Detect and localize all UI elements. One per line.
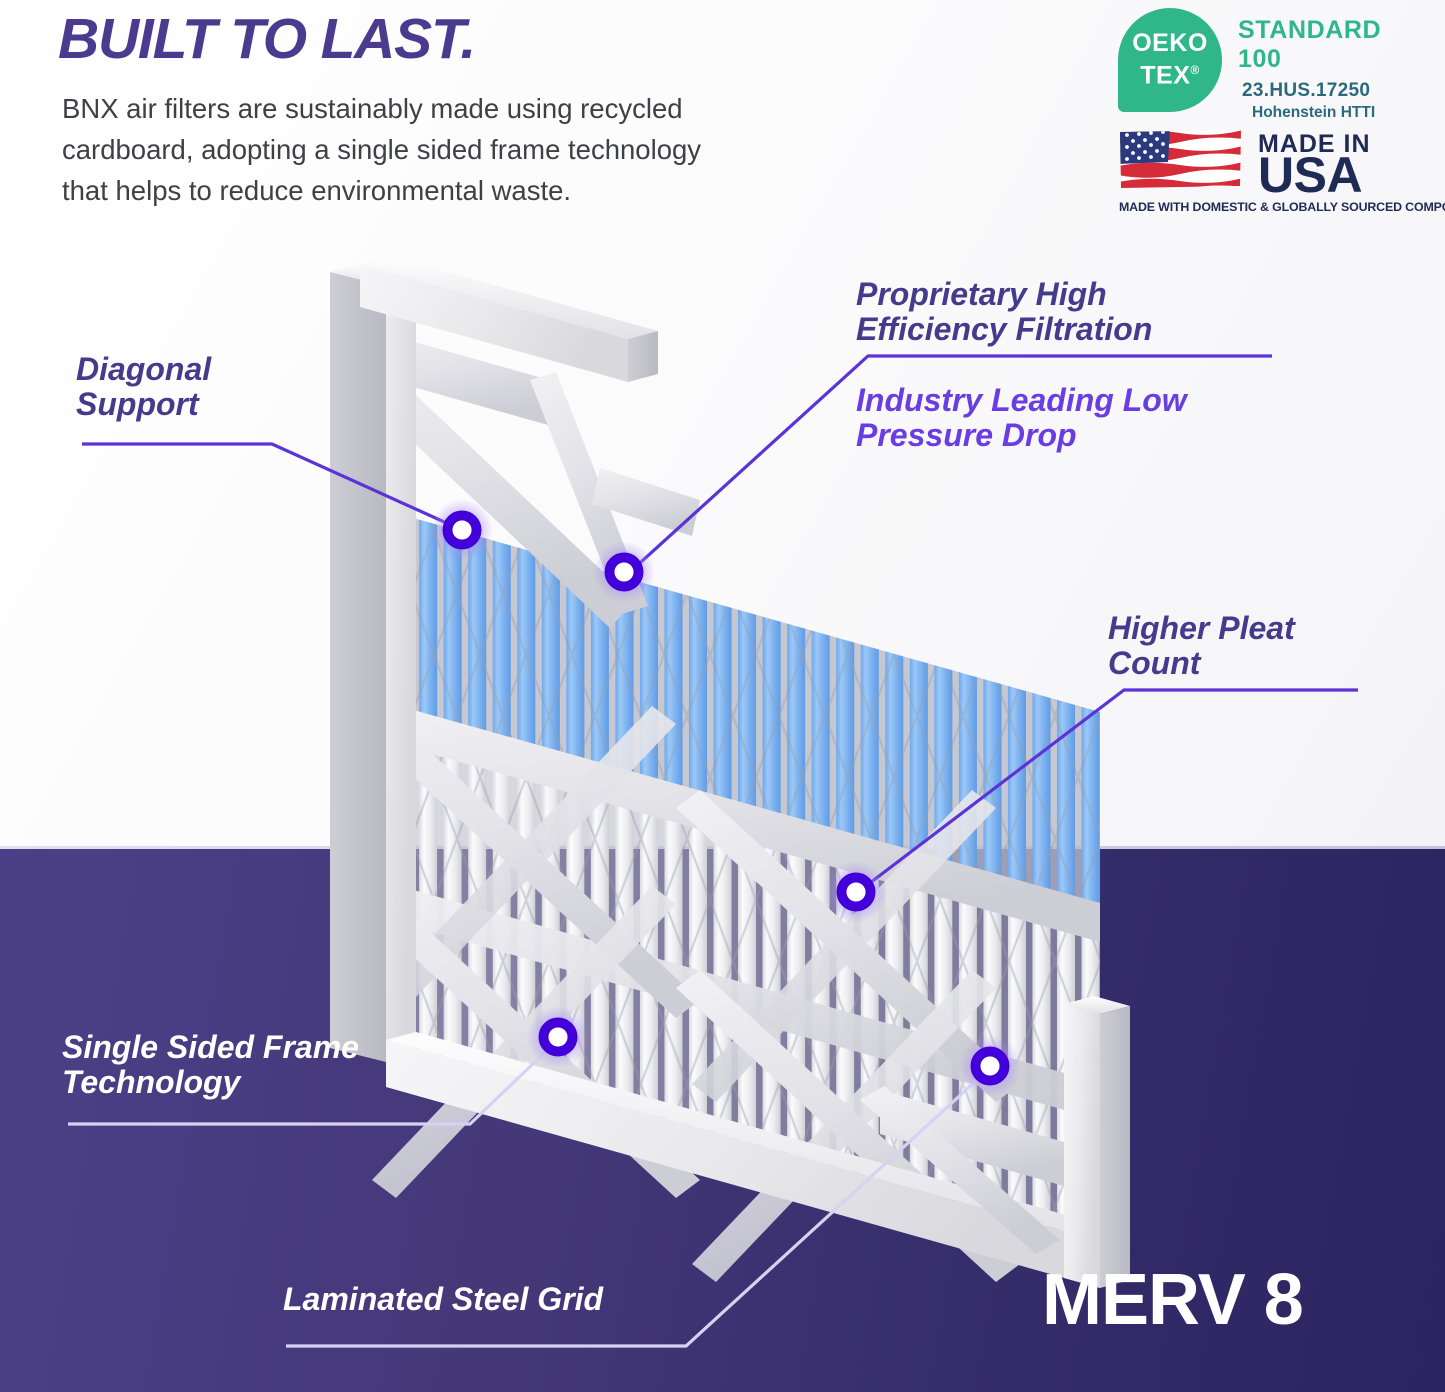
callout-pleat-count: Higher Pleat Count xyxy=(1108,611,1295,680)
oeko-certificate-number: 23.HUS.17250 xyxy=(1242,80,1370,102)
marker-diagonal-support xyxy=(431,499,493,561)
merv-rating-badge: MERV 8 xyxy=(1042,1264,1303,1336)
callout-diagonal-support: Diagonal Support xyxy=(76,352,211,421)
callout-pressure-drop-line1: Industry Leading Low xyxy=(856,383,1187,418)
oeko-standard-line1: STANDARD xyxy=(1238,16,1381,45)
intro-line-2: cardboard, adopting a single sided frame… xyxy=(62,129,852,170)
callout-frame-line2: Technology xyxy=(62,1065,359,1100)
single-sided-frame-left-rail xyxy=(330,264,416,1062)
marker-laminated-steel-grid xyxy=(959,1035,1021,1097)
callout-pressure-drop-line2: Pressure Drop xyxy=(856,418,1187,453)
oeko-tex-name-line1: OEKO xyxy=(1132,30,1208,57)
intro-line-1: BNX air filters are sustainably made usi… xyxy=(62,88,852,129)
oeko-tex-badge: OEKO TEX® STANDARD 100 23.HUS.17250 Hohe… xyxy=(1118,8,1438,120)
oeko-tex-logo-mark: OEKO TEX® xyxy=(1118,8,1222,112)
marker-single-sided-frame xyxy=(527,1006,589,1068)
callout-laminated-steel-grid: Laminated Steel Grid xyxy=(283,1282,603,1317)
frame-right-rail xyxy=(1064,996,1130,1288)
oeko-standard-line2: 100 xyxy=(1238,45,1381,74)
callout-pleat-count-line2: Count xyxy=(1108,646,1295,681)
registered-mark-icon: ® xyxy=(1190,63,1199,77)
callout-pressure-drop: Industry Leading Low Pressure Drop xyxy=(856,383,1187,452)
marker-proprietary-filtration xyxy=(593,541,655,603)
marker-pleat-count xyxy=(825,861,887,923)
oeko-institute: Hohenstein HTTI xyxy=(1252,104,1375,122)
infographic-canvas: BUILT TO LAST. BNX air filters are susta… xyxy=(0,0,1445,1392)
oeko-standard-label: STANDARD 100 xyxy=(1238,16,1381,74)
callout-diagonal-support-line1: Diagonal xyxy=(76,352,211,387)
callout-proprietary-line1: Proprietary High xyxy=(856,277,1152,312)
intro-line-3: that helps to reduce environmental waste… xyxy=(62,170,852,211)
callout-single-sided-frame: Single Sided Frame Technology xyxy=(62,1030,359,1099)
callout-diagonal-support-line2: Support xyxy=(76,387,211,422)
callout-pleat-count-line1: Higher Pleat xyxy=(1108,611,1295,646)
callout-proprietary-filtration: Proprietary High Efficiency Filtration xyxy=(856,277,1152,346)
callout-proprietary-line2: Efficiency Filtration xyxy=(856,312,1152,347)
made-in-usa-badge: MADE IN USA MADE WITH DOMESTIC & GLOBALL… xyxy=(1118,128,1438,223)
page-title: BUILT TO LAST. xyxy=(58,6,475,72)
usa-label: USA xyxy=(1258,150,1362,200)
intro-paragraph: BNX air filters are sustainably made usi… xyxy=(62,88,852,211)
usa-flag-icon xyxy=(1118,128,1243,190)
oeko-tex-name-line2: TEX® xyxy=(1140,57,1199,89)
usa-disclaimer: MADE WITH DOMESTIC & GLOBALLY SOURCED CO… xyxy=(1119,200,1437,214)
callout-frame-line1: Single Sided Frame xyxy=(62,1030,359,1065)
callout-grid-line1: Laminated Steel Grid xyxy=(283,1282,603,1317)
